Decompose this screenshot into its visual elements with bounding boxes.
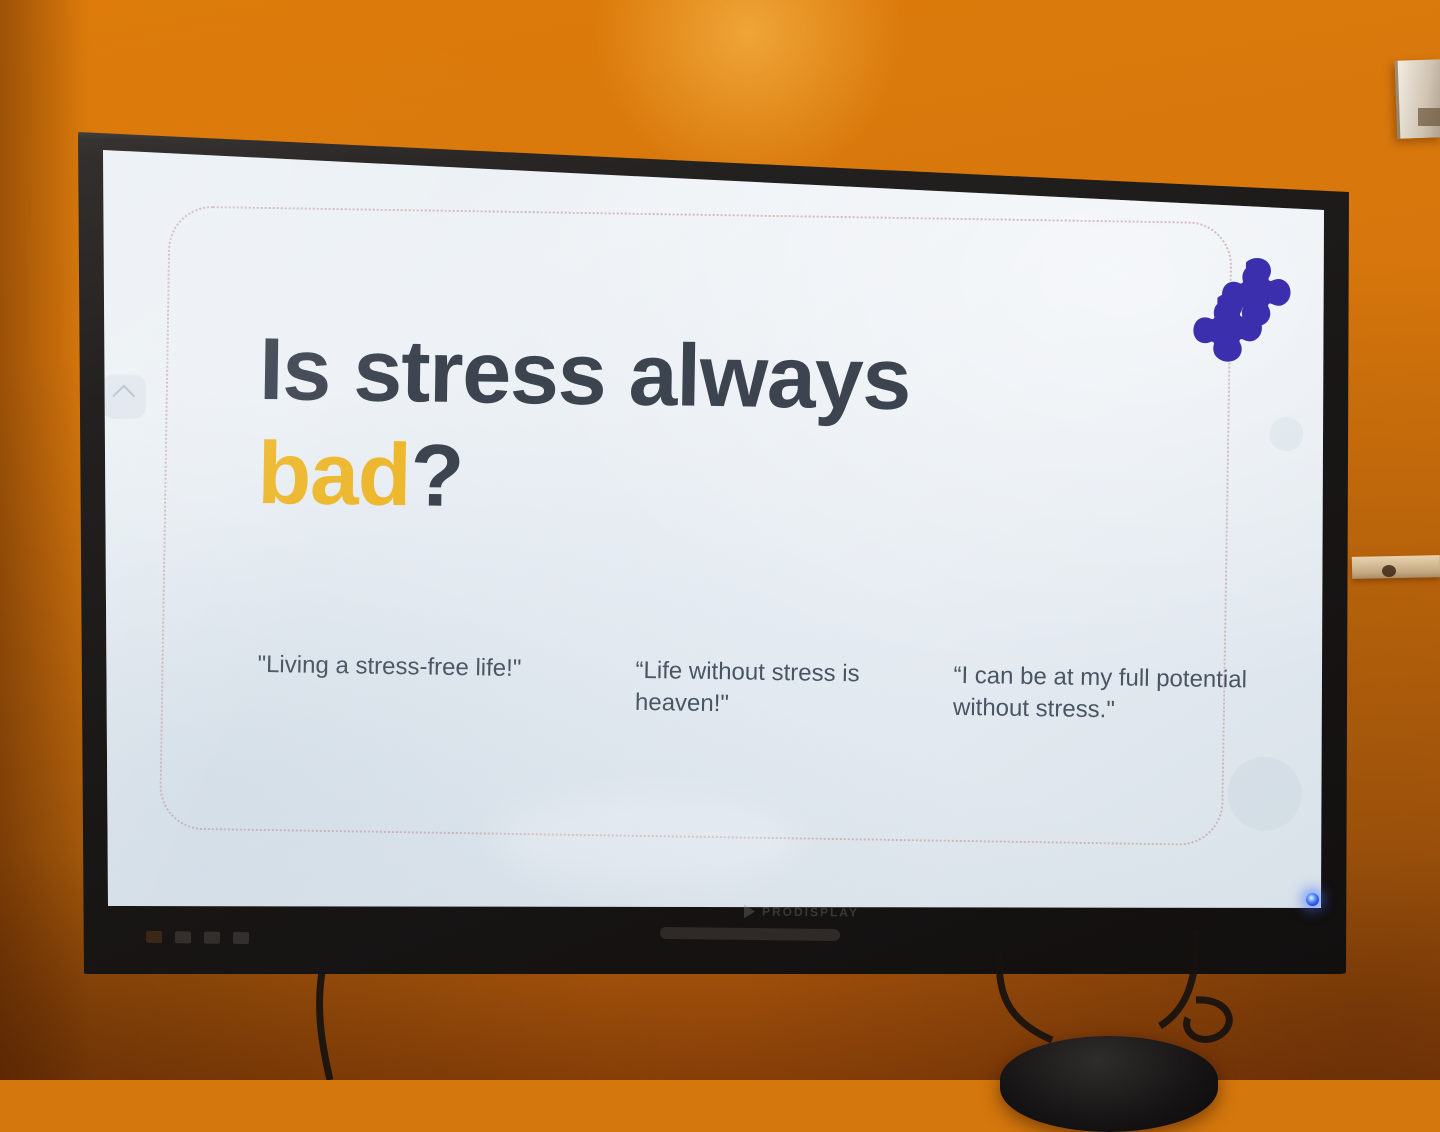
screen-panel: Is stress always bad? "Living a stress-f… xyxy=(78,126,1350,974)
headline-line-1: Is stress always xyxy=(258,317,1090,434)
power-led-indicator xyxy=(1306,893,1319,906)
puzzle-pieces-icon xyxy=(1182,251,1304,365)
presentation-slide: Is stress always bad? "Living a stress-f… xyxy=(65,126,1350,994)
brand-name: PRODISPLAY xyxy=(762,905,859,920)
display-screen: Is stress always bad? "Living a stress-f… xyxy=(78,126,1350,974)
screen-glare-spot xyxy=(1227,756,1302,831)
bezel-control-buttons[interactable] xyxy=(146,931,336,949)
headline-question-mark: ? xyxy=(410,425,464,525)
bezel-button[interactable] xyxy=(175,931,191,943)
bezel-button[interactable] xyxy=(233,932,249,944)
slide-headline: Is stress always bad? xyxy=(257,317,1090,538)
screen-left-handle-button[interactable] xyxy=(101,374,146,419)
bezel-button[interactable] xyxy=(146,931,162,943)
triangle-logo-icon xyxy=(744,904,755,918)
quote-item: “Life without stress is heaven!" xyxy=(635,655,954,724)
bezel-button[interactable] xyxy=(204,932,220,944)
quote-item: "Living a stress-free life!" xyxy=(257,649,635,687)
chevron-up-icon xyxy=(112,384,135,407)
display-brand-logo: PRODISPLAY xyxy=(744,902,864,921)
display-stand-base xyxy=(1000,1036,1218,1132)
display-ir-sensor-bar xyxy=(660,927,840,941)
screen-right-handle-button[interactable] xyxy=(1269,417,1304,452)
headline-highlight-word: bad xyxy=(257,423,411,524)
quote-item: “I can be at my full potential without s… xyxy=(953,660,1254,729)
wall-mounted-display: Is stress always bad? "Living a stress-f… xyxy=(0,0,1440,1080)
